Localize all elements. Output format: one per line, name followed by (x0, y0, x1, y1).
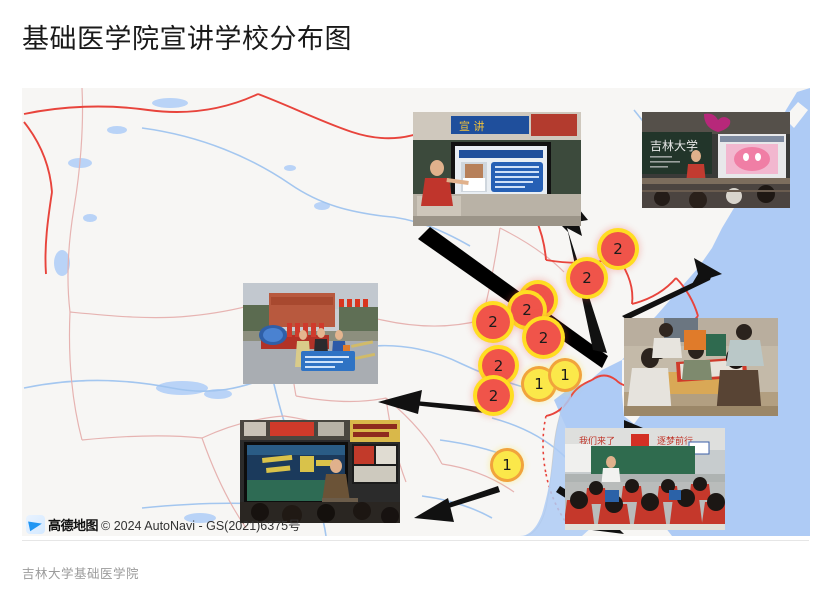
photo-top-center[interactable]: 宣 讲 (413, 112, 581, 226)
photo-left-image (243, 283, 378, 384)
marker-label: 2 (582, 269, 592, 287)
photo-bottom-right[interactable]: 我们来了 逐梦前行 (565, 428, 725, 530)
map-marker-count-1[interactable]: 1 (551, 361, 579, 389)
photo-top-right-image: 吉林大学 (642, 112, 790, 208)
page-title: 基础医学院宣讲学校分布图 (22, 22, 352, 56)
amap-copyright-text: © 2024 AutoNavi - GS(2021)6375号 (101, 515, 301, 534)
marker-label: 1 (534, 375, 544, 393)
photo-top-center-image: 宣 讲 (413, 112, 581, 226)
slide-root: 基础医学院宣讲学校分布图 (0, 0, 831, 605)
map-marker-count-2[interactable]: 2 (601, 232, 635, 266)
map-marker-count-2[interactable]: 2 (482, 349, 515, 382)
map-container[interactable]: 宣 讲 (22, 88, 810, 536)
marker-label: 1 (502, 456, 512, 474)
photo-bottom-left-image (240, 420, 400, 523)
svg-text:逐梦前行: 逐梦前行 (657, 435, 693, 447)
marker-label: 1 (560, 366, 570, 384)
svg-text:宣 讲: 宣 讲 (459, 119, 485, 133)
marker-label: 2 (494, 357, 504, 375)
marker-label: 2 (613, 240, 623, 258)
marker-label: 2 (488, 313, 498, 331)
amap-logo-icon (26, 515, 45, 534)
photo-right[interactable] (624, 318, 778, 416)
map-attribution: 高德地图 © 2024 AutoNavi - GS(2021)6375号 (26, 515, 301, 534)
photo-right-image (624, 318, 778, 416)
svg-text:吉林大学: 吉林大学 (650, 138, 698, 153)
marker-label: 2 (539, 329, 549, 347)
marker-label: 2 (489, 387, 499, 405)
footer-org-label: 吉林大学基础医学院 (22, 563, 139, 582)
footer-divider (22, 540, 809, 541)
map-marker-count-2[interactable]: 2 (526, 320, 561, 355)
map-marker-count-1[interactable]: 1 (524, 369, 554, 399)
map-marker-count-2[interactable]: 2 (570, 261, 604, 295)
map-marker-count-2[interactable]: 2 (477, 379, 510, 412)
marker-label: 2 (522, 301, 532, 319)
photo-bottom-right-image: 我们来了 逐梦前行 (565, 428, 725, 530)
photo-bottom-left[interactable] (240, 420, 400, 523)
photo-left[interactable] (243, 283, 378, 384)
map-marker-count-1[interactable]: 1 (493, 451, 521, 479)
photo-top-right[interactable]: 吉林大学 (642, 112, 790, 208)
map-marker-count-2[interactable]: 2 (476, 305, 510, 339)
amap-provider-label: 高德地图 (48, 515, 98, 534)
